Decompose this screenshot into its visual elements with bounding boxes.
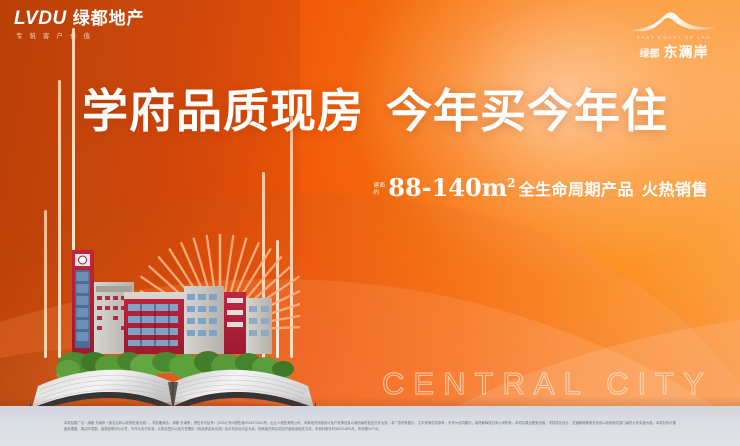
watermark-text: CENTRAL CITY xyxy=(382,366,713,402)
building-right xyxy=(184,286,272,354)
area-range: 88-140m2 xyxy=(388,176,515,200)
logo-right-brand-big: 东澜岸 xyxy=(664,42,709,62)
area-range-value: 88-140m xyxy=(388,173,507,202)
legal-disclaimer: 本项目推广名：绿都·东澜岸（案名名称以政府批准为准），项目备案名：绿都·东澜岸，… xyxy=(64,420,676,432)
brand-logo-right[interactable]: EAST COAST OF LAN 绿都 东澜岸 xyxy=(624,8,724,62)
area-unit-superscript: 2 xyxy=(507,176,515,190)
product-feature-text: 全生命周期产品火热销售 xyxy=(518,183,708,200)
logo-right-english: EAST COAST OF LAN xyxy=(637,35,711,40)
page-title: 学府品质现房今年买今年住 xyxy=(82,88,668,134)
mountain-swoosh-icon xyxy=(628,8,720,34)
subheadline: 建面 约 88-140m2 全生命周期产品火热销售 xyxy=(374,176,708,200)
headline-part2: 今年买今年住 xyxy=(386,84,668,138)
open-book-campus-illustration xyxy=(28,236,318,412)
clock-tower xyxy=(72,250,94,354)
logo-left-row: LVDU 绿都地产 xyxy=(14,9,145,28)
feature-label: 全生命周期产品 xyxy=(518,182,634,199)
logo-right-chinese: 绿都 东澜岸 xyxy=(640,42,709,62)
area-prefix: 建面 约 xyxy=(374,183,386,200)
logo-right-brand-small: 绿都 xyxy=(640,45,660,60)
brand-logo-left[interactable]: LVDU 绿都地产 专筑客户价值 xyxy=(14,9,145,40)
footer-bar: 本项目推广名：绿都·东澜岸（案名名称以政府批准为准），项目备案名：绿都·东澜岸，… xyxy=(0,406,740,446)
headline-part1: 学府品质现房 xyxy=(82,84,364,138)
logo-tagline: 专筑客户价值 xyxy=(14,30,145,40)
logo-company-name: 绿都地产 xyxy=(73,10,145,27)
area-prefix-line2: 约 xyxy=(374,190,386,197)
poster-canvas: LVDU 绿都地产 专筑客户价值 EAST COAST OF LAN 绿都 东澜… xyxy=(0,0,740,446)
status-badge: 火热销售 xyxy=(642,182,708,199)
building-center xyxy=(124,292,184,354)
logo-wordmark: LVDU xyxy=(14,9,67,28)
